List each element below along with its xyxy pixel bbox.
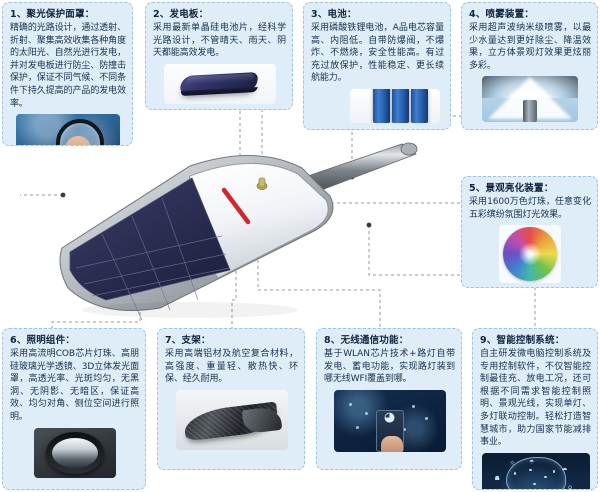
wifi-icon: ◕ [384,411,395,424]
panel-8-body: 基于WLAN芯片技术+路灯自带发电、蓄电功能，实现路灯装到哪无线WFI覆盖到哪。 [324,348,455,386]
feature-panel-9[interactable]: 9、智能控制系统： 自主研发微电脑控制系统及专用控制软件，不仅智能控制最佳充、放… [472,328,598,490]
feature-diagram-stage: 1、聚光保护面罩： 精确的光路设计，通过透射、折射、聚集高效收集各种角度的太阳光… [0,0,600,492]
panel-6-body: 采用高流明COB芯片灯珠、高朋硅玻璃光学透镜、3D立体发光面罩，高透光率、光斑均… [10,348,139,424]
feature-panel-6[interactable]: 6、照明组件： 采用高流明COB芯片灯珠、高朋硅玻璃光学透镜、3D立体发光面罩，… [2,328,146,490]
panel-9-title: 9、智能控制系统： [480,334,591,347]
lamp-icon: ☼ [510,461,515,467]
panel-2-photo [164,64,276,104]
cloud-icon: ☁ [561,466,567,472]
panel-5-title: 5、景观亮化装置： [469,182,591,195]
panel-7-title: 7、支架： [165,334,298,347]
panel-8-title: 8、无线通信功能： [324,334,455,347]
feature-panel-8[interactable]: 8、无线通信功能： 基于WLAN芯片技术+路灯自带发电、蓄电功能，实现路灯装到哪… [316,328,462,470]
panel-4-title: 4、喷雾装置： [469,8,591,21]
panel-1-body: 精确的光路设计，通过透射、折射、聚集高效收集各种角度的太阳光、自然光进行发电，并… [10,22,126,110]
panel-5-photo [499,225,561,283]
home-icon: ☗ [494,476,499,482]
feature-panel-3[interactable]: 3、电池： 采用磷酸铁锂电池，A品电芯容量高、内阻低。自带防爆阀，不爆炸、不燃烧… [303,2,451,130]
feature-panel-4[interactable]: 4、喷雾装置： 采用超声波纳米级喷雾，以最少水量达到更好除尘、降温效果，立方体景… [461,2,598,130]
feature-panel-2[interactable]: 2、发电板： 采用最新单晶硅电池片，经科学光路设计，不管晴天、雨天、阴天都能高效… [145,2,293,110]
color-wheel-icon [503,227,557,281]
umbrella-icon: ☂ [529,460,534,466]
product-illustration [40,138,440,323]
panel-7-photo [176,390,288,450]
feature-panel-7[interactable]: 7、支架： 采用高端铝材及航空复合材料，高强度、重量轻、散热快、环保、经久耐用。 [157,328,305,470]
panel-9-photo: ☗ ☁ ☂ ☼ ⚲ ▣ [482,453,590,490]
panel-3-photo [350,89,440,123]
panel-2-body: 采用最新单晶硅电池片，经科学光路设计，不管晴天、雨天、阴天都能高效发电。 [153,22,286,60]
car-icon: ⚲ [568,486,572,490]
panel-3-body: 采用磷酸铁锂电池，A品电芯容量高、内阻低。自带防爆阀，不爆炸、不燃烧，安全性能高… [311,22,444,85]
panel-1-photo [16,114,120,146]
panel-3-title: 3、电池： [311,8,444,21]
panel-6-photo [34,428,116,478]
feature-panel-5[interactable]: 5、景观亮化装置： 采用1600万色灯珠，任意变化五彩缤纷氛围灯光效果。 [461,176,598,288]
panel-7-body: 采用高端铝材及航空复合材料，高强度、重量轻、散热快、环保、经久耐用。 [165,348,298,386]
panel-2-title: 2、发电板： [153,8,286,21]
panel-4-photo [482,76,578,122]
panel-6-title: 6、照明组件： [10,334,139,347]
panel-4-body: 采用超声波纳米级喷雾，以最少水量达到更好除尘、降温效果，立方体景观灯效果更炫丽多… [469,22,591,72]
panel-9-body: 自主研发微电脑控制系统及专用控制软件，不仅智能控制最佳充、放电工况，还可根据不同… [480,348,591,449]
panel-8-photo: ◕ [334,390,446,452]
panel-5-body: 采用1600万色灯珠，任意变化五彩缤纷氛围灯光效果。 [469,196,591,221]
panel-1-title: 1、聚光保护面罩： [10,8,126,21]
feature-panel-1[interactable]: 1、聚光保护面罩： 精确的光路设计，通过透射、折射、聚集高效收集各种角度的太阳光… [2,2,133,146]
